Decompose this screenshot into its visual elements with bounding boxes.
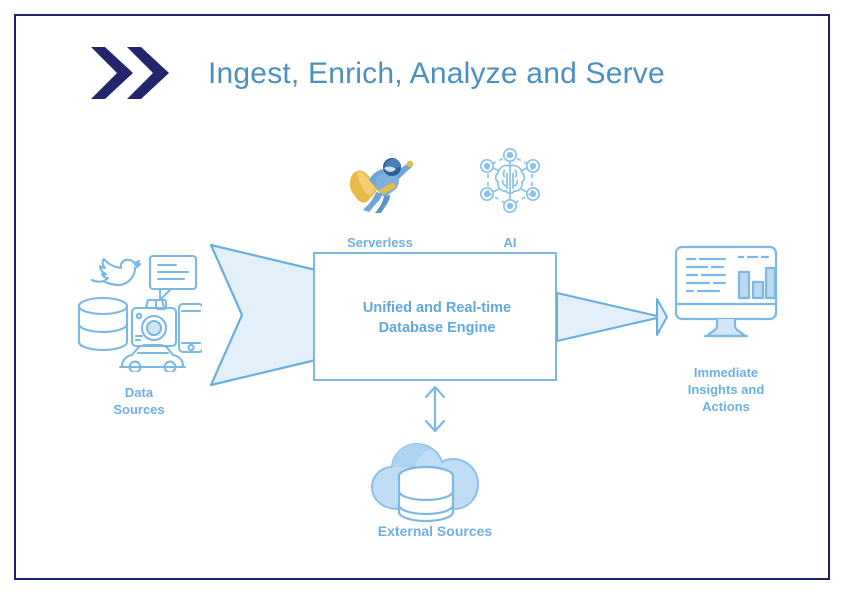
ai-label: AI	[469, 234, 551, 251]
engine-box: Unified and Real-time Database Engine	[313, 252, 557, 381]
diagram-canvas: Ingest, Enrich, Analyze and Serve	[16, 16, 828, 578]
data-sources-label-line1: Data	[74, 384, 204, 401]
insights-label-line3: Actions	[666, 398, 786, 415]
flying-superhero-icon	[343, 144, 415, 216]
inbound-funnel-arrow-icon	[206, 242, 324, 388]
serverless-label: Serverless	[321, 234, 439, 251]
engine-label: Unified and Real-time Database Engine	[315, 298, 559, 338]
engine-label-line2: Database Engine	[315, 318, 559, 338]
bidirectional-vertical-arrow-icon	[418, 384, 452, 434]
insights-label: Immediate Insights and Actions	[666, 364, 786, 415]
engine-label-line1: Unified and Real-time	[315, 298, 559, 318]
brain-network-icon	[475, 146, 545, 216]
external-sources-label: External Sources	[354, 523, 516, 540]
double-chevron-logo-icon	[89, 43, 171, 103]
cloud-database-icon	[364, 431, 504, 523]
outbound-arrow-icon	[554, 289, 669, 345]
insights-label-line1: Immediate	[666, 364, 786, 381]
slide-frame: Ingest, Enrich, Analyze and Serve	[14, 14, 830, 580]
insights-label-line2: Insights and	[666, 381, 786, 398]
data-sources-label-line2: Sources	[74, 401, 204, 418]
data-sources-label: Data Sources	[74, 384, 204, 418]
data-sources-icon-cluster	[76, 250, 202, 372]
monitor-dashboard-icon	[673, 244, 779, 342]
page-title: Ingest, Enrich, Analyze and Serve	[208, 57, 728, 91]
